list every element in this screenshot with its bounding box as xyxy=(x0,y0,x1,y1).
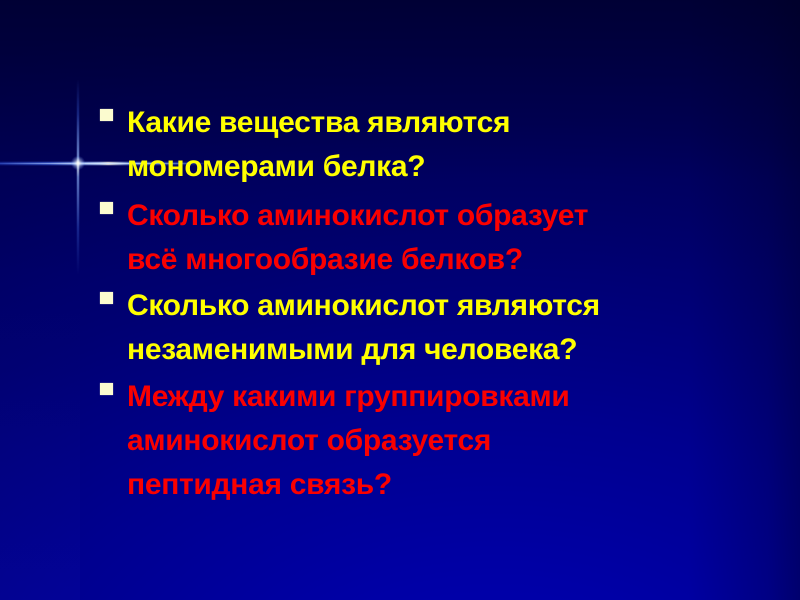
slide-body: Какие вещества являются мономерами белка… xyxy=(0,0,800,600)
bullet-square-icon xyxy=(100,202,113,214)
bullet-square-icon xyxy=(100,109,113,121)
bullet-item-4: Между какими группировками аминокислот о… xyxy=(100,375,772,507)
bullet-text-1: Какие вещества являются мономерами белка… xyxy=(127,101,772,189)
presentation-slide: Какие вещества являются мономерами белка… xyxy=(0,0,800,600)
bullet-text-4: Между какими группировками аминокислот о… xyxy=(127,375,772,507)
bullet-item-1: Какие вещества являются мономерами белка… xyxy=(100,101,772,189)
bullet-square-icon xyxy=(100,383,113,395)
bullet-square-icon xyxy=(100,292,113,304)
bullet-item-2: Сколько аминокислот образует всё многооб… xyxy=(100,194,772,282)
bullet-text-2: Сколько аминокислот образует всё многооб… xyxy=(127,194,772,282)
bullet-text-3: Сколько аминокислот являются незаменимым… xyxy=(127,284,772,372)
bullet-item-3: Сколько аминокислот являются незаменимым… xyxy=(100,284,772,372)
